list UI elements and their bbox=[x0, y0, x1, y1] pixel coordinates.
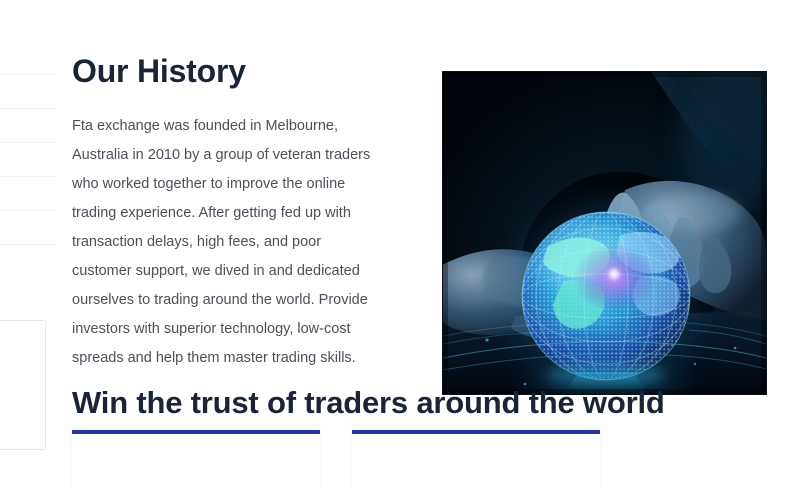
history-text-column: Our History Fta exchange was founded in … bbox=[72, 52, 372, 373]
trust-section-heading: Win the trust of traders around the worl… bbox=[72, 384, 665, 421]
holographic-globe-photo bbox=[443, 72, 766, 394]
main-content: Our History Fta exchange was founded in … bbox=[0, 0, 800, 441]
trust-card[interactable] bbox=[72, 430, 320, 490]
trust-card[interactable] bbox=[352, 430, 600, 490]
globe-illustration bbox=[443, 72, 766, 394]
page-title: Our History bbox=[72, 52, 372, 90]
history-paragraph: Fta exchange was founded in Melbourne, A… bbox=[72, 112, 372, 373]
trust-cards-row bbox=[72, 430, 732, 490]
